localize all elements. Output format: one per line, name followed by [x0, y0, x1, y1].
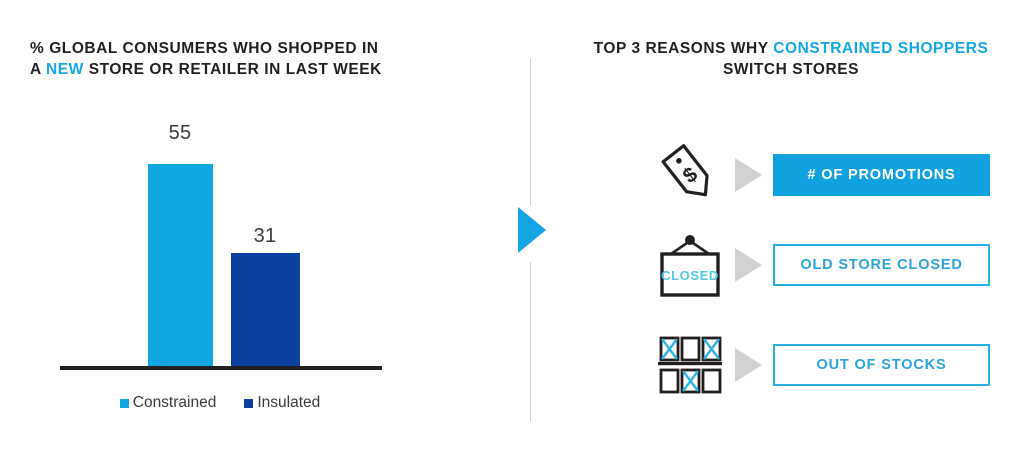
- closed-sign-text: CLOSED: [661, 268, 719, 283]
- legend-item-insulated: Insulated: [244, 394, 320, 412]
- legend-swatch-icon: [120, 399, 129, 408]
- empty-shelf-icon: [647, 326, 733, 404]
- legend-item-constrained: Constrained: [120, 394, 217, 412]
- price-tag-dollar-icon: $: [647, 136, 733, 214]
- right-panel-title: TOP 3 REASONS WHY CONSTRAINED SHOPPERS S…: [581, 38, 1001, 80]
- chart-baseline-axis: [60, 366, 382, 370]
- legend-label-insulated: Insulated: [257, 394, 320, 412]
- reason-label-promotions[interactable]: # OF PROMOTIONS: [773, 154, 990, 196]
- bar-value-insulated: 31: [220, 225, 310, 248]
- reason-row: CLOSED OLD STORE CLOSED: [551, 226, 1024, 304]
- right-title-highlight: CONSTRAINED SHOPPERS: [773, 40, 988, 57]
- reason-row: $ # OF PROMOTIONS: [551, 136, 1024, 214]
- legend-swatch-icon: [244, 399, 253, 408]
- reason-row: OUT OF STOCKS: [551, 326, 1024, 404]
- legend-label-constrained: Constrained: [133, 394, 217, 412]
- divider-line-bottom: [530, 262, 531, 422]
- right-title-pre: TOP 3 REASONS WHY: [594, 40, 774, 57]
- panel-divider: [511, 0, 551, 467]
- right-panel: TOP 3 REASONS WHY CONSTRAINED SHOPPERS S…: [551, 0, 1024, 467]
- play-triangle-icon: [518, 207, 546, 253]
- arrow-right-icon: [735, 158, 762, 192]
- closed-sign-icon: CLOSED: [647, 226, 733, 304]
- reason-label-store-closed[interactable]: OLD STORE CLOSED: [773, 244, 990, 286]
- left-panel: % GLOBAL CONSUMERS WHO SHOPPED IN A NEW …: [0, 0, 470, 467]
- arrow-right-icon: [735, 348, 762, 382]
- bar-value-constrained: 55: [135, 122, 225, 145]
- divider-line-top: [530, 58, 531, 206]
- bar-constrained: [148, 164, 213, 368]
- right-title-post: SWITCH STORES: [723, 61, 859, 78]
- arrow-right-icon: [735, 248, 762, 282]
- reason-label-out-of-stocks[interactable]: OUT OF STOCKS: [773, 344, 990, 386]
- chart-legend: Constrained Insulated: [60, 394, 380, 412]
- bar-insulated: [231, 253, 300, 368]
- bar-chart: 55 31 Constrained Insulated: [0, 0, 470, 467]
